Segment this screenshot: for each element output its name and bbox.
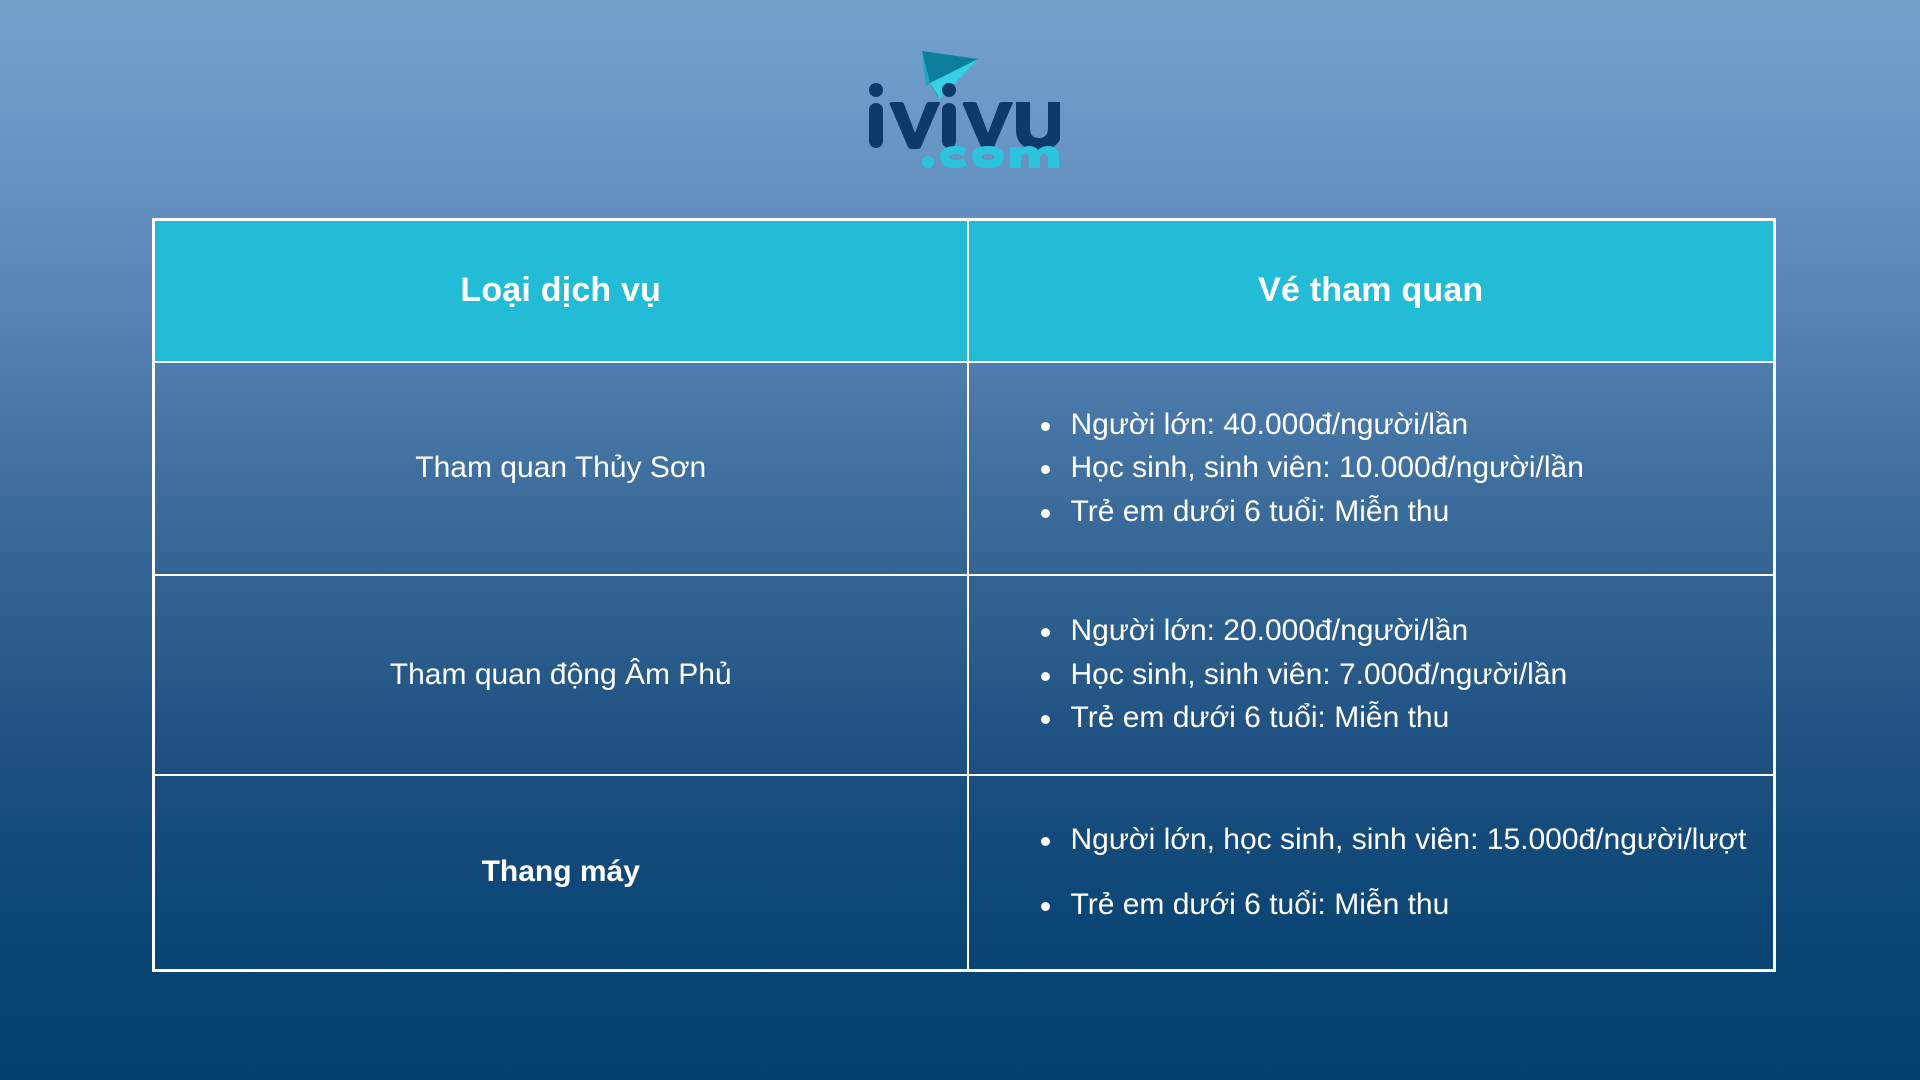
table-header: Loại dịch vụ Vé tham quan <box>154 220 1775 362</box>
price-list-item: Người lớn: 20.000đ/người/lần <box>1035 611 1744 651</box>
price-list-item: Người lớn: 40.000đ/người/lần <box>1035 405 1744 445</box>
price-list-item: Trẻ em dưới 6 tuổi: Miễn thu <box>1035 698 1744 738</box>
table-row: Thang máy Người lớn, học sinh, sinh viên… <box>154 775 1775 971</box>
table-row: Tham quan động Âm Phủ Người lớn: 20.000đ… <box>154 575 1775 775</box>
ivivu-wordmark <box>869 83 1060 150</box>
ivivu-logo-svg <box>860 43 1060 171</box>
cell-service-name: Thang máy <box>154 775 968 971</box>
brand-logo <box>0 42 1920 172</box>
cell-service-name: Tham quan Thủy Sơn <box>154 362 968 575</box>
cell-service-name: Tham quan động Âm Phủ <box>154 575 968 775</box>
table-body: Tham quan Thủy Sơn Người lớn: 40.000đ/ng… <box>154 362 1775 971</box>
cell-ticket-prices: Người lớn, học sinh, sinh viên: 15.000đ/… <box>968 775 1775 971</box>
price-list-item: Người lớn, học sinh, sinh viên: 15.000đ/… <box>1035 820 1744 860</box>
price-list-item: Học sinh, sinh viên: 10.000đ/người/lần <box>1035 448 1744 488</box>
price-list: Người lớn, học sinh, sinh viên: 15.000đ/… <box>1035 820 1744 925</box>
column-header-ticket: Vé tham quan <box>968 220 1775 362</box>
table-header-row: Loại dịch vụ Vé tham quan <box>154 220 1775 362</box>
column-header-service: Loại dịch vụ <box>154 220 968 362</box>
cell-ticket-prices: Người lớn: 20.000đ/người/lần Học sinh, s… <box>968 575 1775 775</box>
ivivu-logo-mark <box>860 43 1060 171</box>
cell-ticket-prices: Người lớn: 40.000đ/người/lần Học sinh, s… <box>968 362 1775 575</box>
price-list-item: Học sinh, sinh viên: 7.000đ/người/lần <box>1035 655 1744 695</box>
table-row: Tham quan Thủy Sơn Người lớn: 40.000đ/ng… <box>154 362 1775 575</box>
price-table: Loại dịch vụ Vé tham quan Tham quan Thủy… <box>152 218 1776 972</box>
price-list-item: Trẻ em dưới 6 tuổi: Miễn thu <box>1035 492 1744 532</box>
price-list: Người lớn: 20.000đ/người/lần Học sinh, s… <box>1035 611 1744 738</box>
price-list: Người lớn: 40.000đ/người/lần Học sinh, s… <box>1035 405 1744 532</box>
price-list-item: Trẻ em dưới 6 tuổi: Miễn thu <box>1035 885 1744 925</box>
